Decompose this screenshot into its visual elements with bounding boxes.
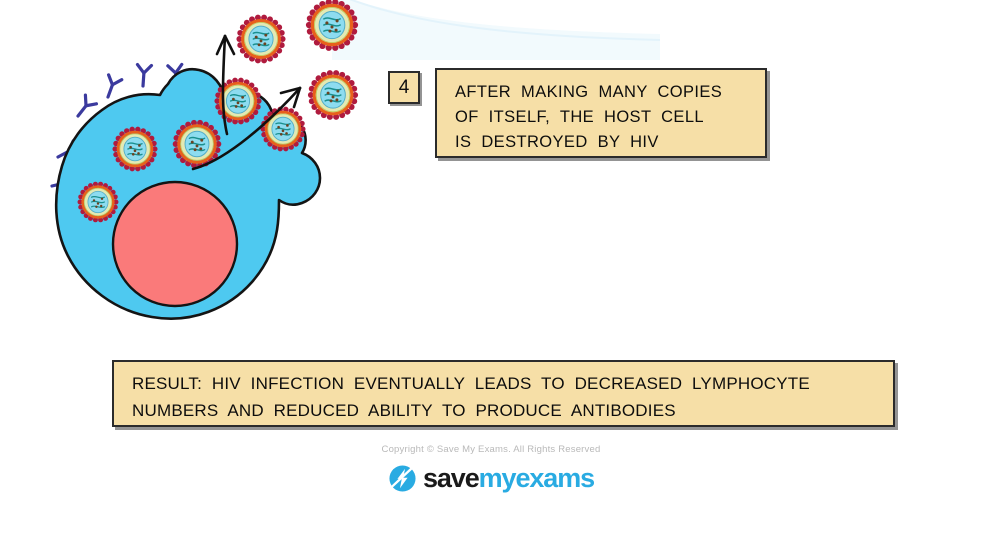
result-text-box: RESULT: HIV INFECTION EVENTUALLY LEADS T…: [112, 360, 895, 427]
result-line-1: RESULT: HIV INFECTION EVENTUALLY LEADS T…: [132, 370, 881, 397]
copyright-text: Copyright © Save My Exams. All Rights Re…: [0, 444, 982, 455]
logo-word-my: my: [479, 463, 516, 493]
callout-line-3: IS DESTROYED BY HIV: [455, 130, 751, 155]
logo-word-save: save: [423, 463, 479, 493]
callout-text-box: AFTER MAKING MANY COPIES OF ITSELF, THE …: [435, 68, 767, 158]
result-line-2: NUMBERS AND REDUCED ABILITY TO PRODUCE A…: [132, 397, 881, 424]
logo-word-exams: exams: [515, 463, 594, 493]
cell-nucleus: [113, 182, 237, 306]
callout-line-2: OF ITSELF, THE HOST CELL: [455, 105, 751, 130]
virus-particle-released-1: [236, 15, 285, 64]
logo-wordmark: savemyexams: [423, 464, 594, 493]
save-my-exams-logo: savemyexams: [0, 464, 982, 493]
virus-particle-released-3: [308, 70, 358, 120]
diagram-canvas: 4 AFTER MAKING MANY COPIES OF ITSELF, TH…: [0, 0, 982, 557]
hiv-host-cell-diagram: [0, 0, 400, 344]
lightning-bolt-circle-icon: [388, 464, 417, 493]
virus-particle-released-2: [306, 0, 358, 51]
callout-number-badge: 4: [388, 71, 420, 104]
callout-line-1: AFTER MAKING MANY COPIES: [455, 80, 751, 105]
